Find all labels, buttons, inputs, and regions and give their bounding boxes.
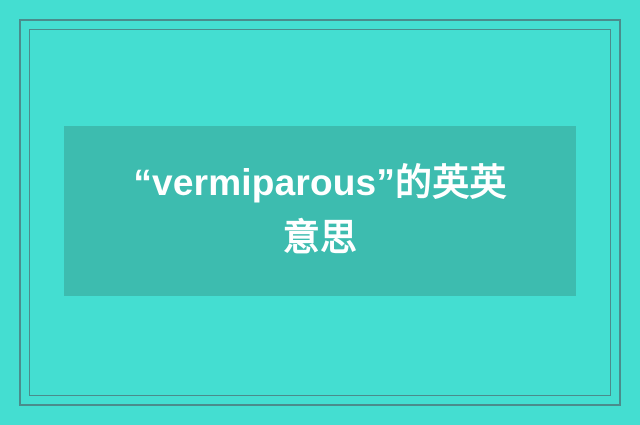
title-card: “vermiparous”的英英意思 xyxy=(64,126,576,296)
page-title: “vermiparous”的英英意思 xyxy=(124,156,516,266)
poster-canvas: “vermiparous”的英英意思 xyxy=(0,0,640,425)
